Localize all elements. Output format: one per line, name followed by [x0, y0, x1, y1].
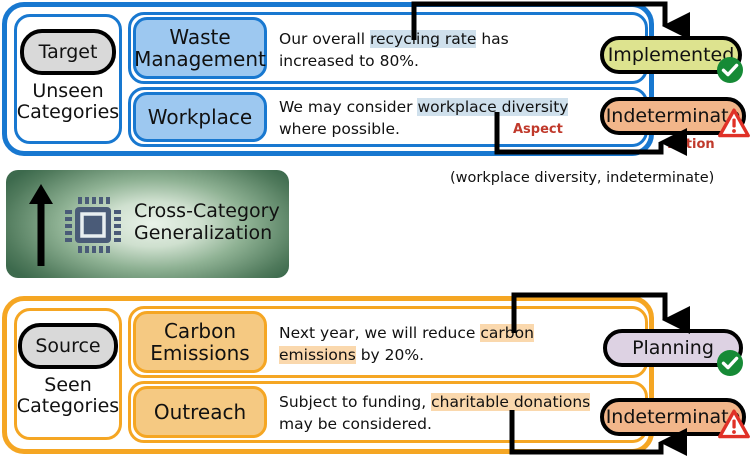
source-role-subtitle-line2: Categories: [17, 396, 119, 417]
generalization-label-line2: Generalization: [134, 222, 280, 244]
source-row-2-warning-triangle-icon: [718, 409, 750, 439]
source-role-label: Source: [35, 335, 100, 357]
target-row-2-warning-triangle-icon: [718, 108, 750, 138]
source-role-subtitle-line1: Seen: [17, 375, 119, 396]
target-row-1-category-chip[interactable]: Waste Management: [133, 17, 267, 79]
target-row-1-category-line2: Management: [134, 48, 266, 70]
target-row-2-category-line1: Workplace: [148, 106, 252, 128]
source-row-1-status-label: Planning: [632, 337, 714, 359]
target-row-1-category-line1: Waste: [134, 26, 266, 48]
target-role-card: Target Unseen Categories: [14, 14, 122, 144]
source-role-subtitle: Seen Categories: [17, 375, 119, 418]
source-row-2-sentence-post: may be considered.: [279, 415, 432, 433]
cpu-chip-icon: [62, 194, 124, 256]
cross-category-generalization-box: Cross-Category Generalization: [6, 170, 289, 278]
cross-category-generalization-label: Cross-Category Generalization: [134, 200, 280, 245]
source-row-1-sentence: Next year, we will reduce carbon emissio…: [279, 322, 594, 366]
target-row-2-sentence-post: where possible.: [279, 120, 400, 138]
source-row-1-sentence-post: by 20%.: [356, 346, 424, 364]
source-row-1-check-circle-icon: [716, 349, 744, 377]
target-row-1-highlight: recycling rate: [370, 30, 476, 48]
source-row-2-highlight: charitable donations: [431, 393, 590, 411]
aspect-edge-label-top-text: Aspect: [513, 122, 563, 137]
up-arrow-icon: [24, 182, 58, 266]
target-role-label: Target: [39, 41, 98, 63]
source-row-1-category-chip[interactable]: Carbon Emissions: [133, 311, 267, 373]
target-row-2-category-chip[interactable]: Workplace: [133, 92, 267, 142]
diagram-canvas: Target Unseen Categories Waste Managemen…: [0, 0, 756, 457]
target-role-subtitle-line2: Categories: [17, 102, 119, 123]
target-role-pill: Target: [20, 29, 116, 75]
target-row-1-sentence: Our overall recycling rate has increased…: [279, 28, 579, 72]
action-edge-label-top-text: Action: [668, 137, 715, 152]
target-row-2-sentence-pre: We may consider: [279, 98, 417, 116]
source-row-1-sentence-pre: Next year, we will reduce: [279, 324, 480, 342]
target-role-subtitle-line1: Unseen: [17, 81, 119, 102]
source-row-2-category-chip[interactable]: Outreach: [133, 386, 267, 438]
source-row-1-category-line1: Carbon: [150, 320, 249, 342]
source-row-2-sentence: Subject to funding, charitable donations…: [279, 391, 594, 435]
source-row-1-category-line2: Emissions: [150, 342, 249, 364]
aspect-edge-label-top: Aspect: [513, 122, 563, 137]
source-role-pill: Source: [18, 323, 118, 369]
source-row-2-category-line1: Outreach: [154, 401, 246, 423]
source-role-card: Source Seen Categories: [14, 308, 122, 440]
generalization-label-line1: Cross-Category: [134, 200, 280, 222]
target-role-subtitle: Unseen Categories: [17, 81, 119, 124]
tuple-annotation-text: (workplace diversity, indeterminate): [450, 170, 714, 186]
target-row-1-check-circle-icon: [716, 56, 744, 84]
target-row-2-highlight: workplace diversity: [417, 98, 568, 116]
action-edge-label-top: Action: [668, 137, 715, 152]
source-row-2-sentence-pre: Subject to funding,: [279, 393, 431, 411]
target-row-1-sentence-pre: Our overall: [279, 30, 370, 48]
tuple-annotation: (workplace diversity, indeterminate): [450, 170, 714, 186]
